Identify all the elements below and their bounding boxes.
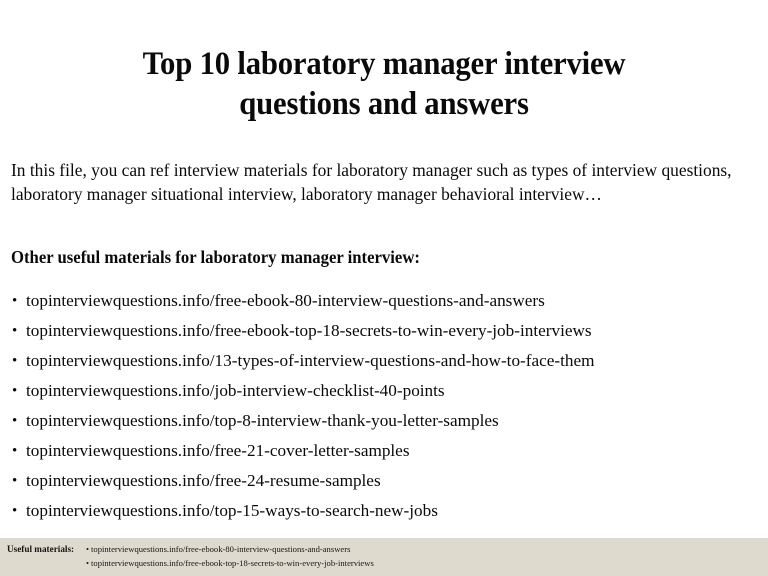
bullet-dot-icon: • bbox=[86, 544, 89, 554]
bullet-dot-icon: • bbox=[12, 406, 17, 436]
list-item[interactable]: • topinterviewquestions.info/top-8-inter… bbox=[11, 406, 757, 436]
slide-canvas: Top 10 laboratory manager interview ques… bbox=[0, 0, 768, 576]
bullet-dot-icon: • bbox=[12, 316, 17, 346]
list-item[interactable]: • topinterviewquestions.info/free-ebook-… bbox=[11, 286, 757, 316]
list-item-label: topinterviewquestions.info/free-24-resum… bbox=[26, 471, 381, 490]
list-item-label: topinterviewquestions.info/free-ebook-to… bbox=[26, 321, 592, 340]
resource-link-list: • topinterviewquestions.info/free-ebook-… bbox=[11, 286, 757, 526]
list-item-label: topinterviewquestions.info/job-interview… bbox=[26, 381, 445, 400]
bullet-dot-icon: • bbox=[12, 346, 17, 376]
list-item-label: topinterviewquestions.info/free-21-cover… bbox=[26, 441, 410, 460]
list-item[interactable]: • topinterviewquestions.info/free-ebook-… bbox=[11, 316, 757, 346]
list-item[interactable]: • topinterviewquestions.info/top-15-ways… bbox=[11, 496, 757, 526]
slide-title-line-2: questions and answers bbox=[64, 84, 704, 124]
list-item[interactable]: • topinterviewquestions.info/job-intervi… bbox=[11, 376, 757, 406]
intro-paragraph: In this file, you can ref interview mate… bbox=[11, 158, 741, 207]
footer-label: Useful materials: bbox=[7, 543, 74, 555]
footer-link-2-label: topinterviewquestions.info/free-ebook-to… bbox=[91, 558, 374, 568]
list-item[interactable]: • topinterviewquestions.info/free-24-res… bbox=[11, 466, 757, 496]
bullet-dot-icon: • bbox=[12, 496, 17, 526]
bullet-dot-icon: • bbox=[12, 436, 17, 466]
bullet-dot-icon: • bbox=[12, 466, 17, 496]
section-subheading: Other useful materials for laboratory ma… bbox=[11, 246, 712, 268]
list-item-label: topinterviewquestions.info/13-types-of-i… bbox=[26, 351, 594, 370]
list-item[interactable]: • topinterviewquestions.info/free-21-cov… bbox=[11, 436, 757, 466]
footer-link-2[interactable]: •topinterviewquestions.info/free-ebook-t… bbox=[86, 557, 374, 569]
footer-link-1-label: topinterviewquestions.info/free-ebook-80… bbox=[91, 544, 350, 554]
bullet-dot-icon: • bbox=[86, 558, 89, 568]
bullet-dot-icon: • bbox=[12, 376, 17, 406]
list-item[interactable]: • topinterviewquestions.info/13-types-of… bbox=[11, 346, 757, 376]
footer-link-1[interactable]: •topinterviewquestions.info/free-ebook-8… bbox=[86, 543, 350, 555]
slide-title: Top 10 laboratory manager interview ques… bbox=[40, 44, 728, 124]
bullet-dot-icon: • bbox=[12, 286, 17, 316]
list-item-label: topinterviewquestions.info/top-8-intervi… bbox=[26, 411, 499, 430]
list-item-label: topinterviewquestions.info/free-ebook-80… bbox=[26, 291, 545, 310]
slide-footer: Useful materials: •topinterviewquestions… bbox=[0, 538, 768, 576]
slide-title-line-1: Top 10 laboratory manager interview bbox=[64, 44, 704, 84]
list-item-label: topinterviewquestions.info/top-15-ways-t… bbox=[26, 501, 438, 520]
